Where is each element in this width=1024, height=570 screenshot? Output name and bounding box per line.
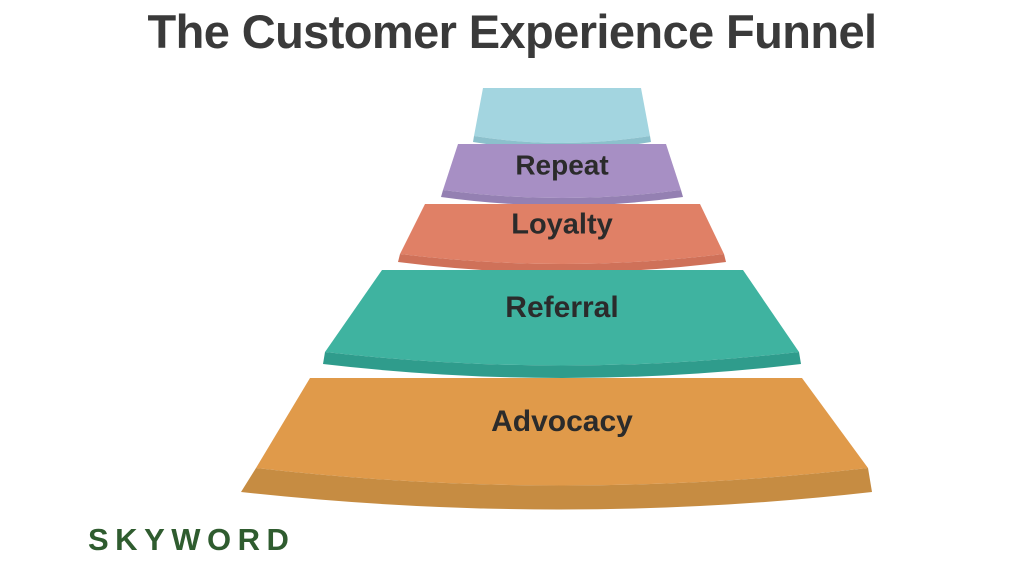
funnel-tier-2[interactable]: Repeat [441,144,683,206]
funnel-tier-4[interactable]: Referral [323,270,801,378]
funnel-tier-4-label: Referral [505,291,618,324]
funnel-tier-1[interactable] [473,88,651,150]
funnel-tier-5[interactable]: Advocacy [241,378,872,510]
funnel-pyramid: Repeat Loyalty Referral Advocacy [0,0,1024,570]
skyword-logo: SKYWORD [88,522,295,558]
funnel-tier-3[interactable]: Loyalty [398,204,726,273]
funnel-tier-2-label: Repeat [515,149,608,180]
funnel-tier-1-body [474,88,650,143]
funnel-tier-3-label: Loyalty [511,209,613,241]
diagram-canvas: The Customer Experience Funnel Repeat Lo… [0,0,1024,570]
funnel-tier-5-label: Advocacy [491,405,633,438]
